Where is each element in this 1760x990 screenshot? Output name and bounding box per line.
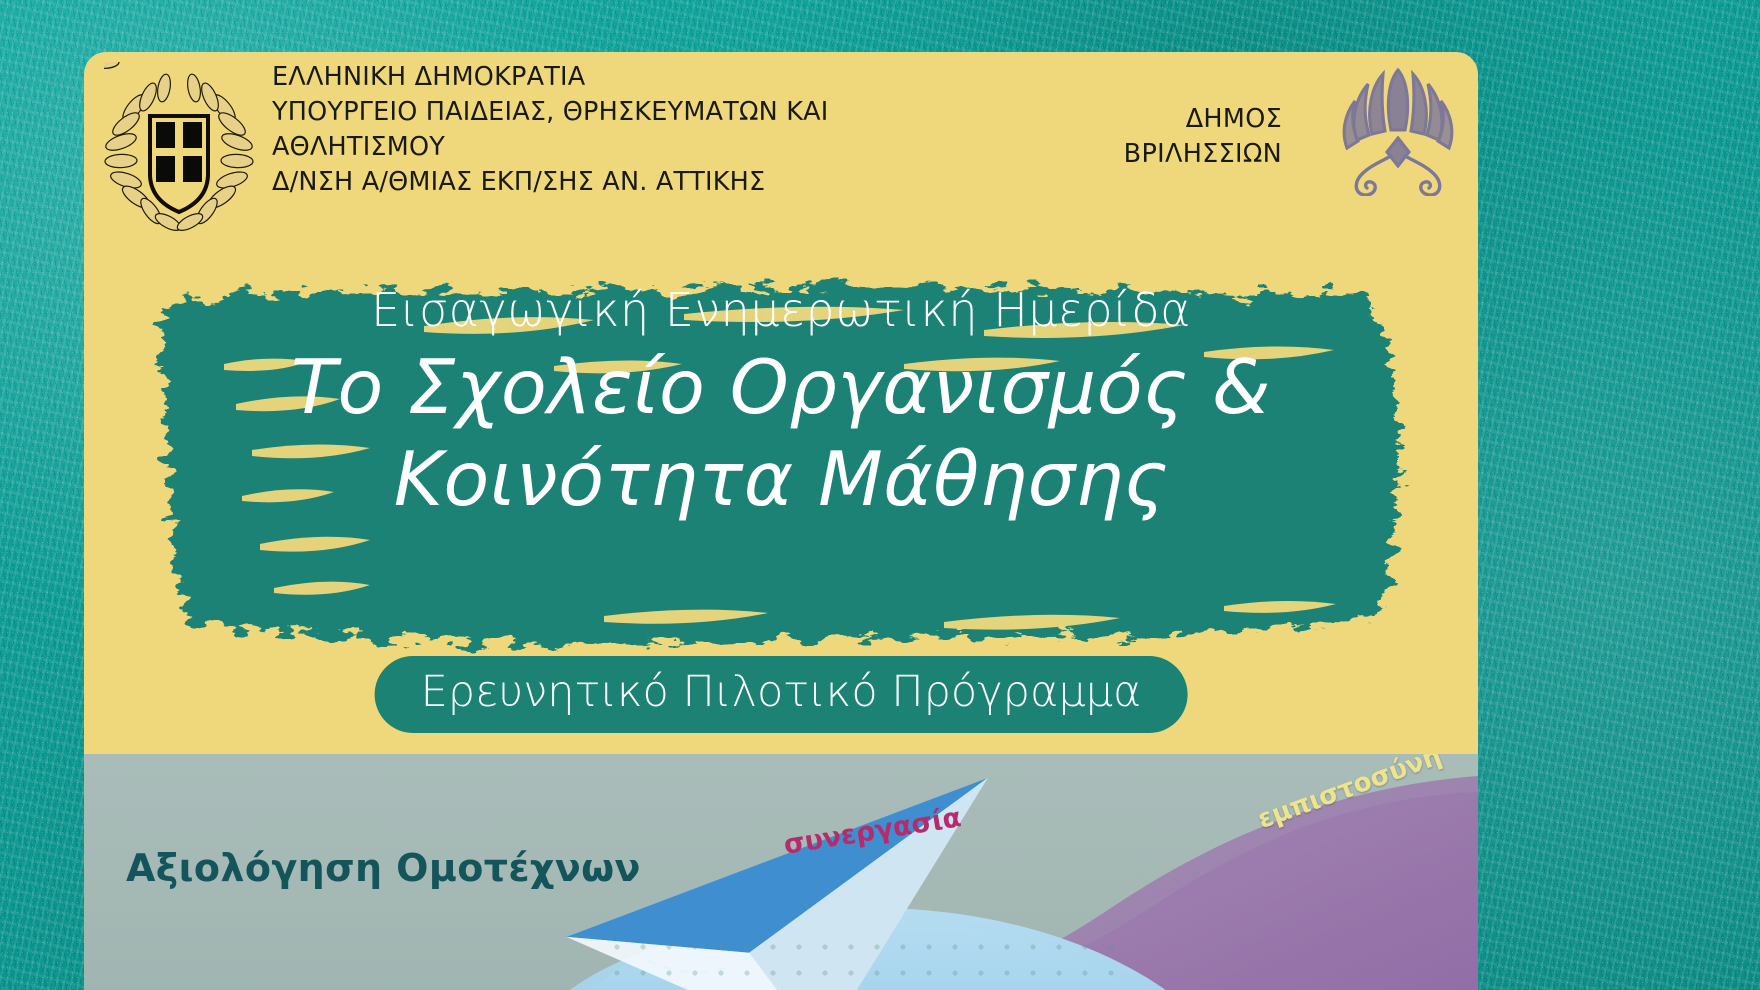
- event-title-line-1: Το Σχολείο Οργανισμός &: [291, 342, 1271, 434]
- event-title-line-2: Κοινότητα Μάθησης: [291, 434, 1271, 526]
- municipality-line-1: ΔΗΜΟΣ: [1124, 102, 1282, 137]
- poster-canvas: ΕΛΛΗΝΙΚΗ ΔΗΜΟΚΡΑΤΙΑ ΥΠΟΥΡΓΕΙΟ ΠΑΙΔΕΙΑΣ, …: [0, 0, 1760, 990]
- poster-card: ΕΛΛΗΝΙΚΗ ΔΗΜΟΚΡΑΤΙΑ ΥΠΟΥΡΓΕΙΟ ΠΑΙΔΕΙΑΣ, …: [84, 52, 1478, 990]
- ministry-line-1: ΕΛΛΗΝΙΚΗ ΔΗΜΟΚΡΑΤΙΑ: [272, 60, 972, 95]
- ministry-line-4: Δ/ΝΣΗ Α/ΘΜΙΑΣ ΕΚΠ/ΣΗΣ ΑΝ. ΑΤΤΙΚΗΣ: [272, 165, 972, 200]
- greek-coat-of-arms-icon: [104, 62, 254, 232]
- program-badge: Ερευνητικό Πιλοτικό Πρόγραμμα: [375, 656, 1188, 733]
- band-word-peer-review: Αξιολόγηση Ομοτέχνων: [126, 846, 641, 890]
- event-subtitle: Εισαγωγική Ενημερωτική Ημερίδα: [371, 286, 1191, 334]
- greek-palmette-emblem-icon: [1336, 56, 1460, 196]
- brush-banner: Εισαγωγική Ενημερωτική Ημερίδα Το Σχολεί…: [84, 244, 1478, 694]
- ministry-line-2: ΥΠΟΥΡΓΕΙΟ ΠΑΙΔΕΙΑΣ, ΘΡΗΣΚΕΥΜΑΤΩΝ ΚΑΙ: [272, 95, 972, 130]
- banner-text-block: Εισαγωγική Ενημερωτική Ημερίδα Το Σχολεί…: [84, 244, 1478, 694]
- dot-pattern: [604, 934, 1124, 990]
- illustration-band: Αξιολόγηση Ομοτέχνων συνεργασία εμπιστοσ…: [84, 754, 1478, 990]
- poster-header: ΕΛΛΗΝΙΚΗ ΔΗΜΟΚΡΑΤΙΑ ΥΠΟΥΡΓΕΙΟ ΠΑΙΔΕΙΑΣ, …: [84, 52, 1478, 237]
- municipality-line-2: ΒΡΙΛΗΣΣΙΩΝ: [1124, 137, 1282, 172]
- ministry-text-block: ΕΛΛΗΝΙΚΗ ΔΗΜΟΚΡΑΤΙΑ ΥΠΟΥΡΓΕΙΟ ΠΑΙΔΕΙΑΣ, …: [272, 60, 972, 200]
- municipality-text-block: ΔΗΜΟΣ ΒΡΙΛΗΣΣΙΩΝ: [1124, 102, 1282, 172]
- laurel-wreath: [104, 62, 119, 68]
- event-title: Το Σχολείο Οργανισμός & Κοινότητα Μάθηση…: [291, 342, 1271, 525]
- ministry-line-3: ΑΘΛΗΤΙΣΜΟΥ: [272, 130, 972, 165]
